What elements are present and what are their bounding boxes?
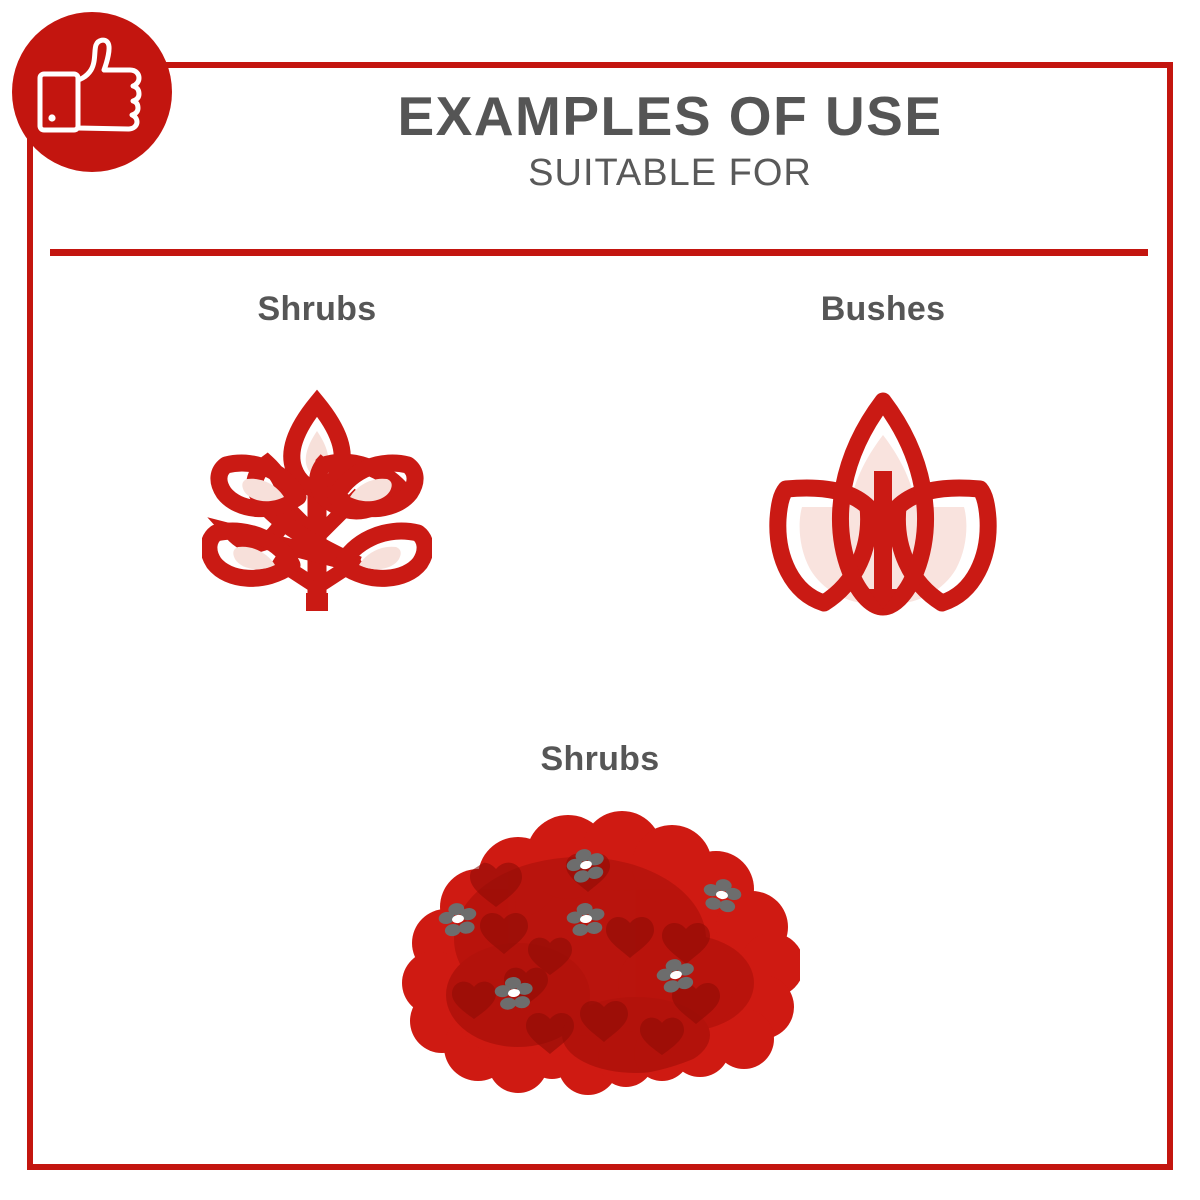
- lotus-bush-icon: [768, 387, 998, 617]
- item-artwork: [97, 377, 537, 627]
- item-label: Shrubs: [34, 740, 1166, 779]
- item-bushes: Bushes: [663, 290, 1103, 627]
- item-shrubs: Shrubs: [97, 290, 537, 627]
- item-shrubs-illustration: Shrubs: [34, 740, 1166, 1097]
- items-row-top: Shrubs: [34, 290, 1166, 627]
- page-subtitle: SUITABLE FOR: [190, 152, 1150, 195]
- item-artwork: [34, 807, 1166, 1097]
- item-label: Shrubs: [97, 290, 537, 329]
- leafy-plant-icon: [202, 387, 432, 617]
- page-title: EXAMPLES OF USE: [190, 88, 1150, 146]
- item-artwork: [663, 377, 1103, 627]
- flowering-shrub-illustration: [400, 807, 800, 1097]
- infographic-panel: EXAMPLES OF USE SUITABLE FOR Shrubs: [0, 0, 1200, 1200]
- thumbs-up-badge: [12, 12, 172, 172]
- item-label: Bushes: [663, 290, 1103, 329]
- header-divider: [50, 249, 1148, 256]
- thumbs-up-icon: [12, 12, 172, 172]
- header: EXAMPLES OF USE SUITABLE FOR: [190, 88, 1150, 195]
